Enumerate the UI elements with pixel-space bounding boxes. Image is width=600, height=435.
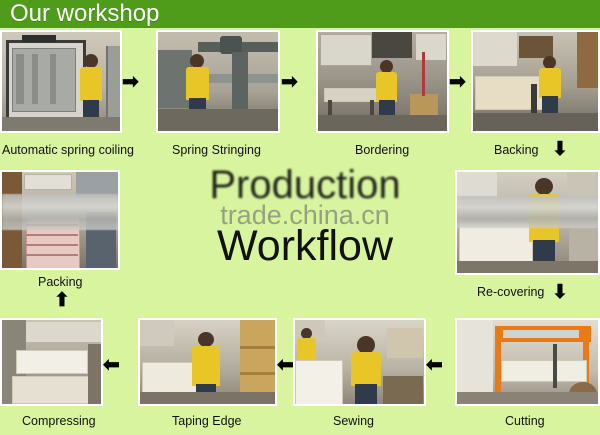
photo-frame — [455, 170, 600, 275]
center-title-workflow: Workflow — [170, 222, 440, 270]
photo-compressing — [0, 318, 103, 406]
caption-compressing: Compressing — [22, 414, 96, 428]
photo-frame — [156, 30, 280, 133]
arrow-down-icon: ⬇ — [552, 140, 568, 159]
caption-cutting: Cutting — [505, 414, 545, 428]
arrow-left-icon: ⬅ — [426, 355, 443, 375]
caption-re-covering: Re-covering — [477, 285, 544, 299]
caption-taping-edge: Taping Edge — [172, 414, 242, 428]
arrow-down-icon: ⬇ — [552, 283, 568, 302]
caption-automatic-spring-coiling: Automatic spring coiling — [2, 143, 134, 157]
arrow-left-icon: ⬅ — [103, 355, 120, 375]
caption-bordering: Bordering — [355, 143, 409, 157]
arrow-up-icon: ⬆ — [54, 291, 70, 310]
photo-frame — [0, 30, 122, 133]
arrow-right-icon: ➡ — [449, 72, 466, 92]
photo-cutting — [455, 318, 600, 406]
arrow-right-icon: ➡ — [281, 72, 298, 92]
photo-backing — [471, 30, 600, 133]
page-title: Our workshop — [10, 1, 159, 27]
photo-frame — [455, 318, 600, 406]
photo-re-covering — [455, 170, 600, 275]
blur-strip — [457, 196, 598, 228]
photo-packing — [0, 170, 120, 270]
photo-frame — [0, 318, 103, 406]
caption-backing: Backing — [494, 143, 538, 157]
arrow-right-icon: ➡ — [122, 72, 139, 92]
workshop-infographic: Our workshop ➡ Automatic spring coiling — [0, 0, 600, 435]
photo-bordering — [316, 30, 449, 133]
photo-frame — [0, 170, 120, 270]
caption-packing: Packing — [38, 275, 82, 289]
photo-spring-stringing — [156, 30, 280, 133]
photo-frame — [293, 318, 426, 406]
photo-sewing — [293, 318, 426, 406]
caption-spring-stringing: Spring Stringing — [172, 143, 261, 157]
header-band: Our workshop — [0, 0, 600, 28]
photo-taping-edge — [138, 318, 277, 406]
photo-frame — [316, 30, 449, 133]
blur-strip — [2, 194, 118, 230]
photo-automatic-spring-coiling — [0, 30, 122, 133]
arrow-left-icon: ⬅ — [277, 355, 294, 375]
photo-frame — [471, 30, 600, 133]
photo-frame — [138, 318, 277, 406]
caption-sewing: Sewing — [333, 414, 374, 428]
